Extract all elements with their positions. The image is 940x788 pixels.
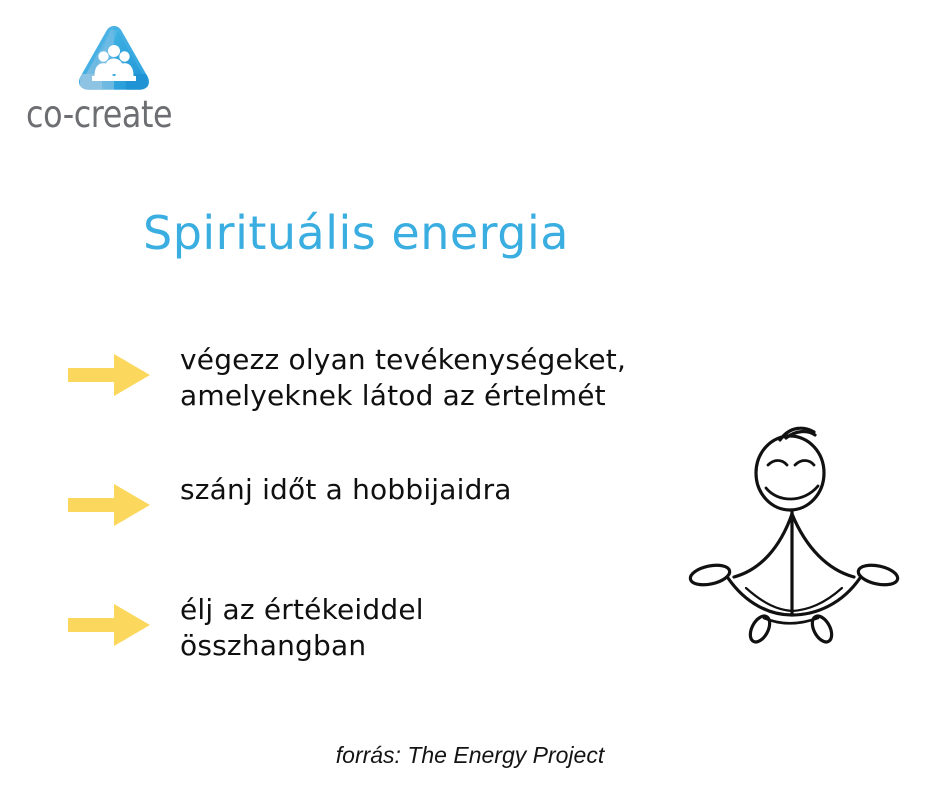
list-item: végezz olyan tevékenységeket, amelyeknek… [66, 342, 726, 414]
arrow-right-icon [66, 350, 152, 400]
list-item-label: végezz olyan tevékenységeket, amelyeknek… [180, 342, 726, 414]
arrow-right-icon [66, 480, 152, 530]
slide-canvas: co-create Spirituális energia végezz oly… [0, 0, 940, 788]
arrow-right-icon [66, 600, 152, 650]
page-title: Spirituális energia [143, 208, 569, 259]
co-create-triangle-logo-icon [76, 24, 152, 92]
meditating-stick-figure-icon [668, 418, 936, 668]
list-item-label: élj az értékeiddel összhangban [180, 592, 726, 664]
list-item: szánj időt a hobbijaidra [66, 472, 726, 530]
list-item: élj az értékeiddel összhangban [66, 592, 726, 664]
brand-wordmark: co-create [26, 96, 172, 133]
list-item-label: szánj időt a hobbijaidra [180, 472, 726, 508]
source-note: forrás: The Energy Project [0, 742, 940, 769]
